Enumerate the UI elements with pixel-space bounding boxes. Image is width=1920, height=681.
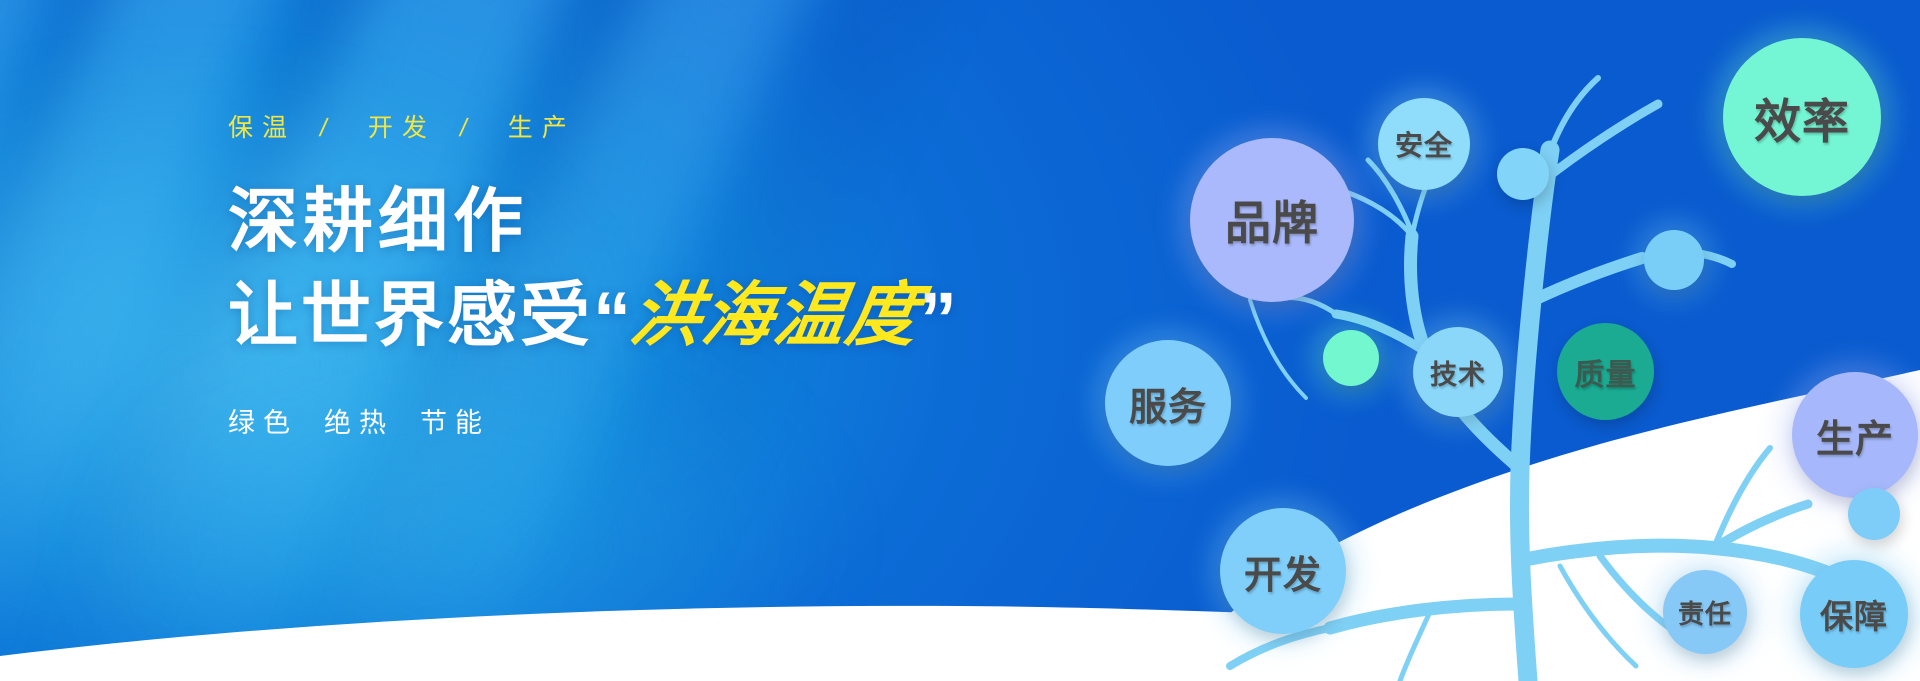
bubble-质量: 质量 <box>1557 323 1654 420</box>
sub-tagline: 绿色绝热节能 <box>228 401 1128 440</box>
bubble-dot <box>1644 230 1704 290</box>
bubble-安全: 安全 <box>1378 98 1470 190</box>
eyebrow-separator: / <box>317 114 338 143</box>
headline-line-1: 深耕细作 <box>228 184 1128 260</box>
eyebrow-item-0: 保温 <box>228 114 296 142</box>
eyebrow-item-2: 生产 <box>508 114 576 142</box>
bubble-效率: 效率 <box>1723 38 1881 196</box>
bubble-label: 安全 <box>1395 124 1453 164</box>
quote-close: ” <box>919 277 957 362</box>
bubble-label: 保障 <box>1820 590 1888 638</box>
bubble-开发: 开发 <box>1220 508 1346 634</box>
bubble-label: 质量 <box>1575 350 1637 394</box>
subline-item-2: 节能 <box>420 408 490 438</box>
headline-prefix: 让世界感受 <box>228 276 593 354</box>
hero-copy: 保温 / 开发 / 生产 深耕细作 让世界感受“洪海温度” 绿色绝热节能 <box>228 108 1128 440</box>
eyebrow-item-1: 开发 <box>368 114 436 142</box>
bubble-label: 责任 <box>1678 594 1732 631</box>
bubble-label: 效率 <box>1754 83 1850 152</box>
bubble-责任: 责任 <box>1663 570 1747 654</box>
bubble-label: 开发 <box>1244 544 1322 599</box>
bubble-技术: 技术 <box>1413 327 1503 417</box>
bubble-dot <box>1497 148 1549 200</box>
bubble-品牌: 品牌 <box>1190 138 1354 302</box>
headline-accent: 洪海温度 <box>625 278 925 354</box>
bubble-label: 生产 <box>1816 408 1894 463</box>
headline-line-2: 让世界感受“洪海温度” <box>228 278 1128 361</box>
bubble-dot <box>1848 488 1900 540</box>
bubble-保障: 保障 <box>1800 560 1908 668</box>
bubble-生产: 生产 <box>1792 372 1918 498</box>
bubble-label: 品牌 <box>1225 187 1319 253</box>
bubble-label: 服务 <box>1129 376 1207 431</box>
bubble-label: 技术 <box>1430 353 1486 392</box>
subline-item-0: 绿色 <box>228 408 298 438</box>
concept-tree: 效率安全品牌技术质量服务生产开发保障责任 <box>1130 0 1920 681</box>
eyebrow-tagline: 保温 / 开发 / 生产 <box>228 108 1128 144</box>
eyebrow-separator: / <box>457 114 478 143</box>
bubble-dot <box>1323 330 1379 386</box>
hero-banner: 效率安全品牌技术质量服务生产开发保障责任 保温 / 开发 / 生产 深耕细作 让… <box>0 0 1920 681</box>
subline-item-1: 绝热 <box>324 408 394 438</box>
